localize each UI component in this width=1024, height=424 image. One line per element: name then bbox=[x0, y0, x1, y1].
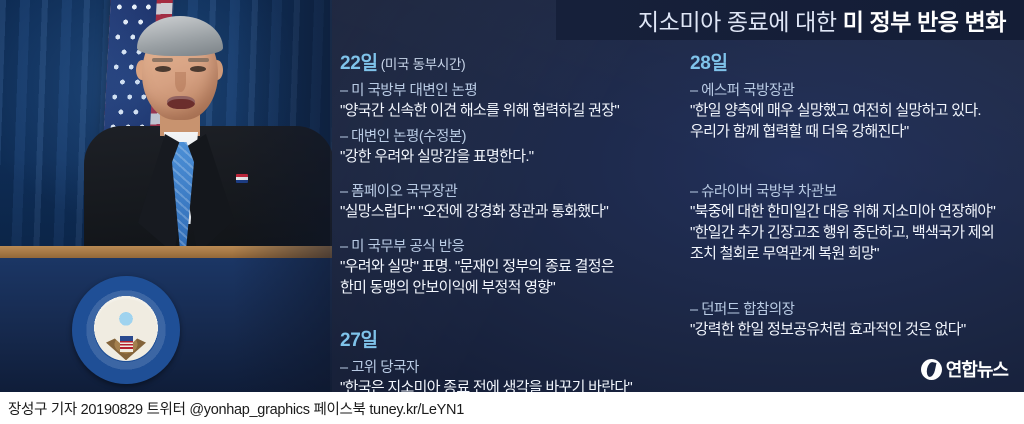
press-conference-photo bbox=[0, 0, 332, 392]
title-bold-part: 미 정부 반응 변화 bbox=[843, 9, 1006, 35]
entry-source: – 미 국방부 대변인 논평 bbox=[340, 79, 668, 100]
day-label: 28일 bbox=[690, 48, 728, 75]
entry-source: – 고위 당국자 bbox=[340, 356, 668, 377]
entry: – 에스퍼 국방장관 "한일 양측에 매우 실망했고 여전히 실망하고 있다. … bbox=[690, 79, 1012, 142]
entry-quote: "북중에 대한 한미일간 대응 위해 지소미아 연장해야" bbox=[690, 202, 1012, 222]
timeline-block: 28일 – 에스퍼 국방장관 "한일 양측에 매우 실망했고 여전히 실망하고 … bbox=[690, 48, 1012, 340]
yonhap-logo-icon bbox=[921, 359, 942, 380]
timeline-column-left: 22일(미국 동부시간) – 미 국방부 대변인 논평 "양국간 신속한 이견 … bbox=[340, 48, 668, 410]
day-heading: 22일(미국 동부시간) bbox=[340, 48, 668, 75]
day-label: 27일 bbox=[340, 325, 378, 352]
credit-text: 장성구 기자 20190829 트위터 @yonhap_graphics 페이스… bbox=[0, 398, 464, 419]
entry-quote: "한일 양측에 매우 실망했고 여전히 실망하고 있다. bbox=[690, 101, 1012, 121]
entry: – 슈라이버 국방부 차관보 "북중에 대한 한미일간 대응 위해 지소미아 연… bbox=[690, 180, 1012, 264]
entry-source: – 슈라이버 국방부 차관보 bbox=[690, 180, 1012, 201]
spacer bbox=[340, 167, 668, 176]
entry: – 미 국무부 공식 반응 "우려와 실망" 표명. "문재인 정부의 종료 결… bbox=[340, 235, 668, 298]
entry-quote: "강력한 한일 정보공유처럼 효과적인 것은 없다" bbox=[690, 320, 1012, 340]
yonhap-news-logo: 연합뉴스 bbox=[921, 356, 1008, 382]
photo-edge-vignette bbox=[0, 0, 332, 392]
day-note: (미국 동부시간) bbox=[381, 53, 466, 73]
entry: – 폼페이오 국무장관 "실망스럽다" "오전에 강경화 장관과 통화했다" bbox=[340, 180, 668, 222]
timeline-column-right: 28일 – 에스퍼 국방장관 "한일 양측에 매우 실망했고 여전히 실망하고 … bbox=[690, 48, 1012, 352]
timeline-block: 27일 – 고위 당국자 "한국은 지소미아 종료 전에 생각을 바꾸기 바란다… bbox=[340, 325, 668, 398]
entry-quote: 한미 동맹의 안보이익에 부정적 영향" bbox=[340, 278, 668, 298]
day-heading: 28일 bbox=[690, 48, 1012, 75]
credit-footer: 장성구 기자 20190829 트위터 @yonhap_graphics 페이스… bbox=[0, 392, 1024, 424]
spacer bbox=[340, 222, 668, 231]
entry-quote: "강한 우려와 실망감을 표명한다." bbox=[340, 147, 668, 167]
title-bar: 지소미아 종료에 대한 미 정부 반응 변화 bbox=[556, 0, 1024, 40]
spacer bbox=[690, 142, 1012, 176]
entry: – 대변인 논평(수정본) "강한 우려와 실망감을 표명한다." bbox=[340, 125, 668, 167]
day-heading: 27일 bbox=[340, 325, 668, 352]
spacer bbox=[690, 264, 1012, 294]
entry-source: – 던퍼드 합참의장 bbox=[690, 298, 1012, 319]
logo-text: 연합뉴스 bbox=[946, 356, 1008, 382]
entry-source: – 에스퍼 국방장관 bbox=[690, 79, 1012, 100]
entry-quote: 조치 철회로 무역관계 복원 희망" bbox=[690, 244, 1012, 264]
infographic-root: 지소미아 종료에 대한 미 정부 반응 변화 22일(미국 동부시간) – 미 … bbox=[0, 0, 1024, 424]
entry: – 미 국방부 대변인 논평 "양국간 신속한 이견 해소를 위해 협력하길 권… bbox=[340, 79, 668, 121]
entry-quote: "양국간 신속한 이견 해소를 위해 협력하길 권장" bbox=[340, 101, 668, 121]
day-label: 22일 bbox=[340, 48, 378, 75]
spacer bbox=[340, 310, 668, 325]
page-title: 지소미아 종료에 대한 미 정부 반응 변화 bbox=[638, 3, 1006, 37]
entry-quote: "실망스럽다" "오전에 강경화 장관과 통화했다" bbox=[340, 202, 668, 222]
entry-quote: 우리가 함께 협력할 때 더욱 강해진다" bbox=[690, 122, 1012, 142]
entry-quote: "우려와 실망" 표명. "문재인 정부의 종료 결정은 bbox=[340, 257, 668, 277]
timeline-block: 22일(미국 동부시간) – 미 국방부 대변인 논평 "양국간 신속한 이견 … bbox=[340, 48, 668, 298]
entry-source: – 미 국무부 공식 반응 bbox=[340, 235, 668, 256]
entry-source: – 폼페이오 국무장관 bbox=[340, 180, 668, 201]
title-light-part: 지소미아 종료에 대한 bbox=[638, 9, 837, 35]
entry-source: – 대변인 논평(수정본) bbox=[340, 125, 668, 146]
entry-quote: "한일간 추가 긴장고조 행위 중단하고, 백색국가 제외 bbox=[690, 223, 1012, 243]
entry: – 던퍼드 합참의장 "강력한 한일 정보공유처럼 효과적인 것은 없다" bbox=[690, 298, 1012, 340]
